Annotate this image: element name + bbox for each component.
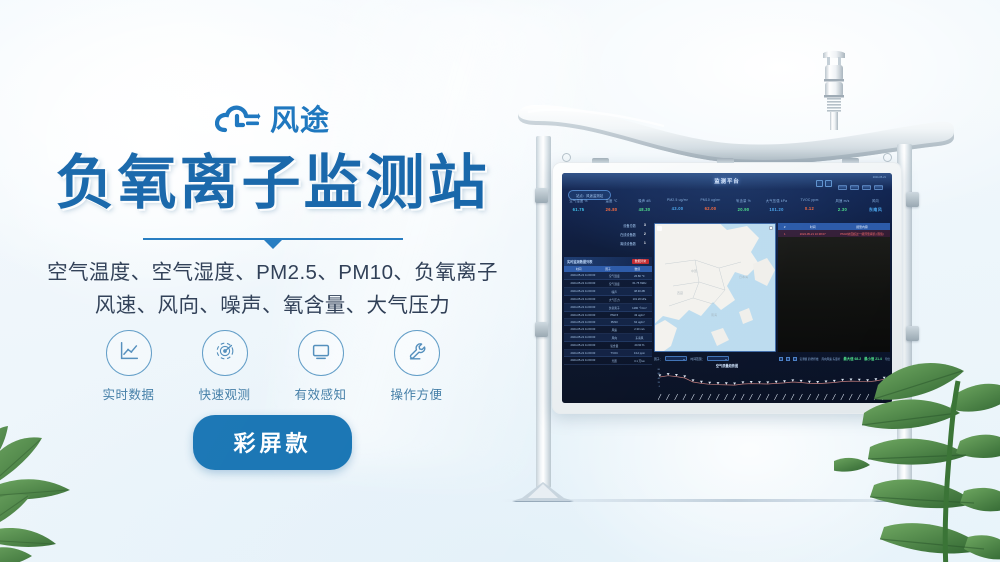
chart-data-marker — [733, 383, 736, 385]
chart-wind-barb — [799, 394, 802, 400]
table-row[interactable]: 2024-05-21 11:00:00负氧离子1280 个/cm³ — [564, 304, 652, 312]
chart-wind-barb — [857, 394, 860, 400]
metric-card-label: 大气压强 kPa — [760, 198, 793, 203]
metric-card-value: 20.90 — [727, 207, 760, 212]
cta-container: 彩屏款 — [0, 415, 545, 470]
table-header-cell: 数值 — [623, 266, 652, 273]
table-cell: 负氧离子 — [602, 304, 627, 311]
feature-list: 实时数据 快速观测 — [0, 330, 545, 403]
metric-card-label: 空气湿度 % — [562, 198, 595, 203]
map-zoom-icon[interactable] — [769, 226, 773, 230]
page-title: 负氧离子监测站 — [0, 152, 545, 216]
table-cell: 1280 个/cm³ — [627, 304, 652, 311]
fengtu-cloud-g-icon — [215, 104, 261, 138]
display-screen[interactable]: 监测平台 站点：风途监测站 2024-05-21 空气湿度 %61.75温度 ℃… — [562, 173, 892, 403]
device-stat-value: 1 — [644, 241, 652, 246]
chart-stat-min: 最小值 21.4 — [864, 356, 882, 361]
svg-text:南海: 南海 — [711, 312, 717, 317]
chart-data-marker — [758, 381, 761, 383]
brand-logo: 风途 — [0, 104, 545, 138]
radar-observation-icon — [213, 339, 237, 368]
table-cell: 43 ug/m³ — [627, 312, 652, 318]
hero-text-panel: 风途 负氧离子监测站 空气温度、空气湿度、PM2.5、PM10、负氧离子 风速、… — [0, 0, 545, 562]
table-row[interactable]: 2024-05-21 11:00:00风向东南风 — [564, 334, 652, 342]
chart-wind-barb — [841, 394, 844, 400]
chart-data-marker — [841, 379, 844, 381]
dashboard-widget-cluster: 2024-05-21 — [816, 176, 888, 194]
post-clamp-upper — [535, 188, 548, 203]
table-row[interactable]: 2024-05-21 11:00:00噪声48.30 dB — [564, 288, 652, 296]
metric-card-value: 43.00 — [661, 206, 694, 211]
chart-data-marker — [683, 375, 686, 377]
frame-mount-tab — [592, 158, 609, 163]
table-row[interactable]: 2024-05-21 11:00:00PM2.543 ug/m³ — [564, 312, 652, 319]
title-divider — [0, 232, 545, 248]
brand-name: 风途 — [270, 107, 330, 136]
metric-card-value: 62.00 — [694, 206, 727, 211]
feature-icon-circle — [106, 330, 152, 376]
feature-item-effective-sensing: 有效感知 — [287, 330, 355, 403]
table-cell: 61.75 %RH — [627, 280, 652, 287]
svg-text:西藏: 西藏 — [677, 290, 683, 295]
table-cell: 风向 — [602, 334, 627, 341]
table-cell: 62 ug/m³ — [627, 319, 652, 325]
chart-factor-select[interactable] — [665, 356, 687, 361]
chart-view-toggle-table[interactable] — [793, 357, 797, 361]
metric-card: PM2.5 ug/m³43.00 — [661, 198, 694, 219]
metric-card-value: 26.80 — [595, 207, 628, 212]
chart-data-marker — [783, 380, 786, 382]
monitoring-station-device: 监测平台 站点：风途监测站 2024-05-21 空气湿度 %61.75温度 ℃… — [500, 40, 970, 530]
table-row[interactable]: 2024-05-21 11:00:00PM1062 ug/m³ — [564, 319, 652, 326]
metric-card: TVOC ppm0.12 — [793, 198, 826, 219]
metric-card-label: 噪声 dB — [628, 198, 661, 203]
chart-legend-1: 实测值 趋势折线 — [800, 357, 819, 361]
metric-card-label: 氧含量 % — [727, 198, 760, 203]
color-screen-model-button[interactable]: 彩屏款 — [193, 415, 351, 470]
table-header-row: 时间因子数值 — [564, 266, 652, 273]
chart-data-marker — [658, 374, 661, 376]
monitor-icon — [309, 339, 333, 368]
chart-data-marker — [775, 381, 778, 383]
device-stat-row: 在线设备数2 — [566, 232, 652, 237]
chart-data-marker — [874, 378, 877, 380]
metric-card-label: 温度 ℃ — [595, 198, 628, 203]
chart-wind-barb — [882, 394, 885, 400]
metric-card: 大气压强 kPa101.20 — [760, 198, 793, 219]
feature-icon-circle — [394, 330, 440, 376]
line-chart-icon — [117, 339, 141, 368]
post-clamp-upper — [906, 192, 919, 207]
feature-icon-circle — [202, 330, 248, 376]
device-stat-value: 3 — [644, 223, 652, 228]
table-cell: 风速 — [602, 326, 627, 333]
wrench-icon — [405, 339, 429, 368]
weather-icon[interactable] — [816, 180, 823, 187]
table-row[interactable]: 2024-05-21 11:00:00风速2.30 m/s — [564, 326, 652, 334]
post-clamp-lower — [906, 326, 919, 341]
frame-hook-icon — [562, 153, 571, 162]
table-cell: 26.80 ℃ — [627, 272, 652, 279]
alerts-header-cell: # — [778, 223, 791, 230]
chart-wind-barb — [749, 394, 752, 400]
station-map[interactable]: 中国 日本海 西藏 南海 — [654, 223, 776, 352]
status-chip — [874, 185, 883, 190]
map-marker-icon[interactable] — [657, 226, 662, 231]
dashboard: 监测平台 站点：风途监测站 2024-05-21 空气湿度 %61.75温度 ℃… — [562, 173, 892, 403]
table-cell: 空气温度 — [602, 272, 627, 279]
feature-item-easy-operation: 操作方便 — [383, 330, 451, 403]
metric-card: 噪声 dB48.30 — [628, 198, 661, 219]
chart-data-marker — [816, 381, 819, 383]
metric-card-value: 东南风 — [859, 207, 892, 213]
metric-card-value: 61.75 — [562, 207, 595, 212]
metric-card-value: 2.30 — [826, 207, 859, 212]
chart-wind-barb — [766, 394, 769, 400]
table-title: 实时监测数据列表 — [567, 259, 593, 264]
chart-toolbar: 因子： 时间范围： 实测值 趋势折线 风向风速 矢量杆 最大值 68.2 最小值 — [654, 355, 890, 362]
metric-card: 温度 ℃26.80 — [595, 198, 628, 219]
metric-card-label: 风速 m/s — [826, 198, 859, 203]
device-stat-label: 设备总数 — [623, 223, 636, 228]
table-cell: 101.20 kPa — [627, 296, 652, 303]
chart-wind-barb — [774, 394, 777, 400]
chart-data-marker — [717, 382, 720, 384]
table-cell: 2024-05-21 11:00:00 — [564, 304, 602, 311]
frame-mount-tab — [842, 158, 859, 163]
status-badge: 数据异常 — [632, 259, 649, 265]
chart-data-marker — [725, 382, 728, 384]
chart-filter-label-2: 时间范围： — [690, 357, 704, 361]
table-title-bar: 实时监测数据列表 数据异常 — [564, 257, 652, 266]
metric-card-value: 48.30 — [628, 207, 661, 212]
table-cell: 东南风 — [627, 334, 652, 341]
frame-hook-icon — [883, 153, 892, 162]
table-body: 2024-05-21 11:00:00空气温度26.80 ℃2024-05-21… — [564, 272, 652, 365]
chart-data-marker — [825, 381, 828, 383]
feature-icon-circle — [298, 330, 344, 376]
chart-wind-barb — [866, 394, 869, 400]
chart-legend-2: 风向风速 矢量杆 — [821, 357, 840, 361]
realtime-data-table: 实时监测数据列表 数据异常 时间因子数值 2024-05-21 11:00:00… — [564, 257, 652, 365]
dashboard-middle-region: 设备总数3在线设备数2离线设备数1 实时监测数据列表 数据异常 时间因子数值 2… — [562, 221, 892, 354]
dashboard-date: 2024-05-21 — [873, 176, 886, 179]
chart-export-button[interactable]: 导出 — [885, 357, 890, 361]
chart-data-marker — [675, 374, 678, 376]
chart-wind-barb — [783, 394, 786, 400]
device-stat-row: 离线设备数1 — [566, 241, 652, 246]
chart-wind-barb — [874, 394, 877, 400]
chart-wind-barb — [683, 394, 686, 400]
metric-card: 空气湿度 %61.75 — [562, 198, 595, 219]
table-cell: 2024-05-21 11:00:00 — [564, 334, 602, 341]
table-header-cell: 因子 — [593, 266, 622, 273]
chart-data-marker — [800, 380, 803, 382]
chart-wind-barb — [691, 394, 694, 400]
chart-wind-barb — [708, 394, 711, 400]
metric-card-label: PM10 ug/m³ — [694, 198, 727, 202]
feature-label: 操作方便 — [383, 384, 451, 403]
table-row[interactable]: 2024-05-21 11:00:00空气湿度61.75 %RH — [564, 280, 652, 288]
chart-wind-barb — [832, 394, 835, 400]
chart-data-marker — [833, 380, 836, 382]
table-row[interactable]: 2024-05-21 11:00:00氧含量20.90 % — [564, 342, 652, 350]
metric-card: PM10 ug/m³62.00 — [694, 198, 727, 219]
metric-card-value: 0.12 — [793, 206, 826, 211]
chart-wind-barb — [816, 394, 819, 400]
table-cell: 2024-05-21 11:00:00 — [564, 342, 602, 349]
metric-card-label: TVOC ppm — [793, 198, 826, 202]
svg-text:中国: 中国 — [691, 268, 697, 273]
chart-wind-barb — [849, 394, 852, 400]
feature-item-realtime-data: 实时数据 — [95, 330, 163, 403]
metric-card-label: 风向 — [859, 198, 892, 203]
chart-data-marker — [700, 381, 703, 383]
metric-card-label: PM2.5 ug/m³ — [661, 198, 694, 202]
chart-data-marker — [766, 381, 769, 383]
alerts-panel: #时间报警内容 12024-05-21 10:38:07PM10浓度超过一级预警… — [778, 223, 890, 352]
alerts-header-cell: 报警内容 — [834, 223, 890, 230]
table-cell: 空气湿度 — [602, 280, 627, 287]
chart-data-marker — [858, 379, 861, 381]
subtitle-line-1: 空气温度、空气湿度、PM2.5、PM10、负氧离子 — [0, 256, 545, 289]
chart-data-marker — [808, 381, 811, 383]
chart-wind-barb — [675, 394, 678, 400]
subtitle-line-2: 风速、风向、噪声、氧含量、大气压力 — [0, 289, 545, 322]
svg-text:日本海: 日本海 — [739, 274, 748, 279]
table-header-cell: 时间 — [564, 266, 593, 273]
chart-wind-barb — [700, 394, 703, 400]
feature-label: 快速观测 — [191, 384, 259, 403]
divider-triangle-icon — [264, 240, 282, 249]
table-cell: 2024-05-21 11:00:00 — [564, 326, 602, 333]
user-icon[interactable] — [825, 180, 832, 187]
chart-view-toggle-line[interactable] — [786, 357, 790, 361]
dashboard-title: 监测平台 — [714, 177, 740, 185]
device-stats-list: 设备总数3在线设备数2离线设备数1 — [566, 223, 652, 250]
chart-wind-barb — [741, 394, 744, 400]
table-cell: 2.30 m/s — [627, 326, 652, 333]
table-row[interactable]: 2024-05-21 11:00:00大气压力101.20 kPa — [564, 296, 652, 304]
table-cell: 噪声 — [602, 288, 627, 295]
chart-wind-barb — [808, 394, 811, 400]
map-landmass: 中国 日本海 西藏 南海 — [655, 224, 776, 352]
display-enclosure: 监测平台 站点：风途监测站 2024-05-21 空气湿度 %61.75温度 ℃… — [552, 162, 902, 414]
table-cell: 氧含量 — [602, 342, 627, 349]
status-chip — [862, 185, 871, 190]
chart-wind-barb — [666, 394, 669, 400]
device-stat-label: 离线设备数 — [620, 241, 636, 246]
device-stat-label: 在线设备数 — [620, 232, 636, 237]
table-cell: 48.30 dB — [627, 288, 652, 295]
table-cell: 2024-05-21 11:00:00 — [564, 319, 602, 325]
post-clamp-lower — [535, 322, 548, 337]
chart-range-select[interactable] — [707, 356, 729, 361]
settings-icon[interactable] — [838, 185, 847, 190]
chart-data-marker — [866, 379, 869, 381]
alerts-camera-feed — [778, 237, 890, 352]
chart-wind-barb — [724, 394, 727, 400]
ground-shadow-line — [500, 499, 970, 502]
chart-data-marker — [750, 381, 753, 383]
chart-wind-barb — [824, 394, 827, 400]
metric-card: 氧含量 %20.90 — [727, 198, 760, 219]
alerts-header-cell: 时间 — [791, 223, 834, 230]
chart-filter-label-1: 因子： — [654, 357, 662, 361]
feature-item-fast-observation: 快速观测 — [191, 330, 259, 403]
metric-card-value: 101.20 — [760, 207, 793, 212]
chart-data-marker — [667, 373, 670, 375]
metric-card: 风向东南风 — [859, 198, 892, 219]
trend-chart-section: 因子： 时间范围： 实测值 趋势折线 风向风速 矢量杆 最大值 68.2 最小值 — [562, 354, 892, 403]
table-cell: 大气压力 — [602, 296, 627, 303]
device-stat-value: 2 — [644, 232, 652, 237]
feature-label: 实时数据 — [95, 384, 163, 403]
device-stat-row: 设备总数3 — [566, 223, 652, 228]
chart-wind-barb — [758, 394, 761, 400]
chart-wind-barb — [716, 394, 719, 400]
table-cell: 2024-05-21 11:00:00 — [564, 312, 602, 318]
chart-wind-barb — [658, 394, 661, 400]
metric-card-row: 空气湿度 %61.75温度 ℃26.80噪声 dB48.30PM2.5 ug/m… — [562, 198, 892, 219]
table-cell: 20.90 % — [627, 342, 652, 349]
chart-view-toggle-bar[interactable] — [779, 357, 783, 361]
chart-wind-barb — [733, 394, 736, 400]
table-cell: PM10 — [602, 319, 627, 325]
status-chip — [850, 185, 859, 190]
table-cell: 2024-05-21 11:00:00 — [564, 288, 602, 295]
chart-stat-max: 最大值 68.2 — [843, 356, 861, 361]
chart-data-marker — [741, 381, 744, 383]
table-cell: 2024-05-21 11:00:00 — [564, 272, 602, 279]
chart-wind-barb — [791, 394, 794, 400]
poster-stage: 风途 负氧离子监测站 空气温度、空气湿度、PM2.5、PM10、负氧离子 风速、… — [0, 0, 1000, 562]
table-cell: 2024-05-21 11:00:00 — [564, 296, 602, 303]
chart-data-marker — [850, 379, 853, 381]
chart-data-marker — [883, 377, 886, 379]
ultrasonic-weather-sensor-icon — [816, 48, 852, 130]
chart-data-marker — [708, 382, 711, 384]
chart-plot-area — [658, 367, 886, 401]
table-row[interactable]: 2024-05-21 11:00:00空气温度26.80 ℃ — [564, 272, 652, 280]
chart-data-marker — [791, 379, 794, 381]
table-cell: 2024-05-21 11:00:00 — [564, 280, 602, 287]
table-cell: PM2.5 — [602, 312, 627, 318]
frame-mount-tab — [717, 158, 734, 163]
alerts-header-row: #时间报警内容 — [778, 223, 890, 230]
subtitle-block: 空气温度、空气湿度、PM2.5、PM10、负氧离子 风速、风向、噪声、氧含量、大… — [0, 256, 545, 322]
metric-card: 风速 m/s2.30 — [826, 198, 859, 219]
feature-label: 有效感知 — [287, 384, 355, 403]
